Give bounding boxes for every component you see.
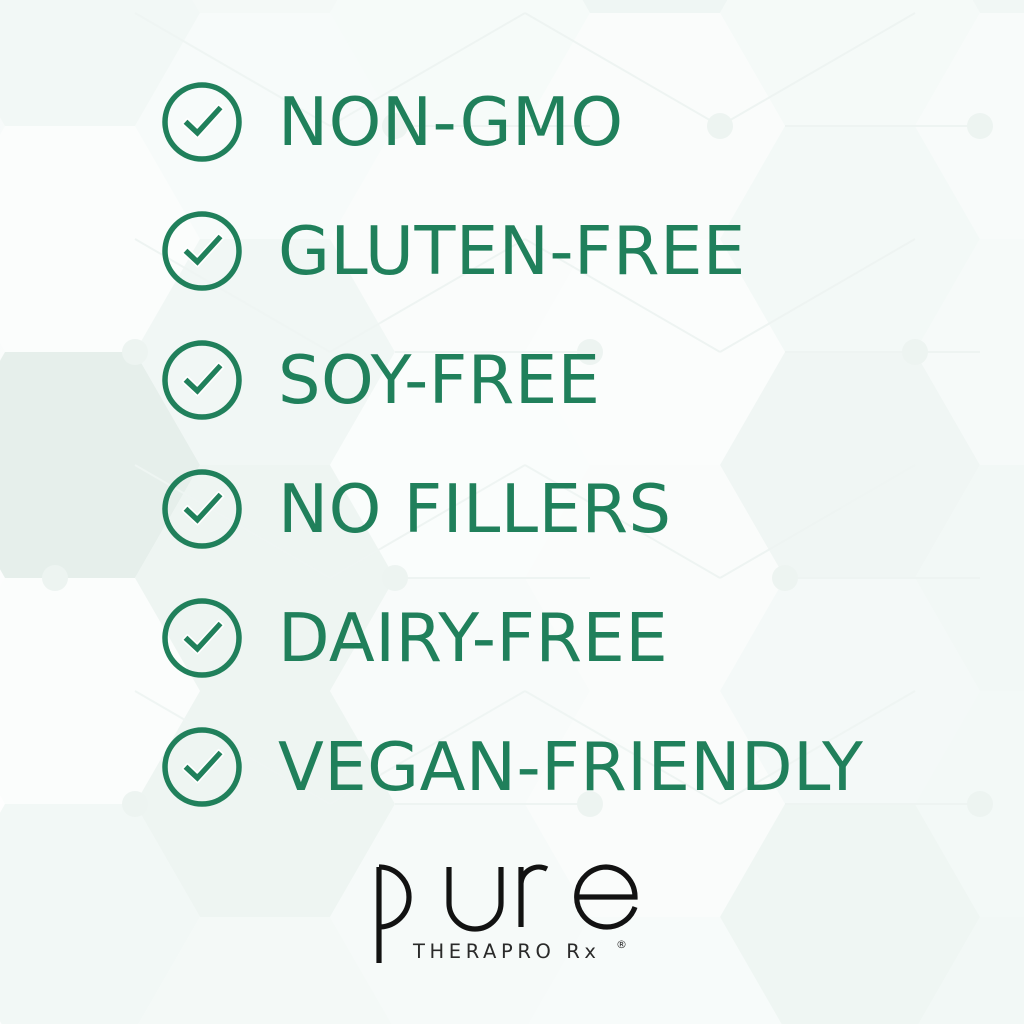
claim-label: NON-GMO — [278, 89, 624, 156]
claim-row: VEGAN-FRIENDLY — [160, 723, 863, 811]
check-circle-icon — [160, 338, 244, 422]
claim-label: GLUTEN-FREE — [278, 218, 746, 285]
claim-label: DAIRY-FREE — [278, 605, 668, 672]
claim-row: NON-GMO — [160, 78, 624, 166]
claim-label: VEGAN-FRIENDLY — [278, 734, 863, 801]
pure-therapro-rx-logo: THERAPRO Rx ® — [367, 845, 657, 970]
check-circle-icon — [160, 725, 244, 809]
claim-row: GLUTEN-FREE — [160, 207, 746, 295]
logo-tagline: THERAPRO Rx — [412, 940, 601, 963]
claim-label: NO FILLERS — [278, 476, 672, 543]
claim-row: DAIRY-FREE — [160, 594, 668, 682]
check-circle-icon — [160, 467, 244, 551]
claim-label: SOY-FREE — [278, 347, 601, 414]
claim-row: NO FILLERS — [160, 465, 672, 553]
claim-row: SOY-FREE — [160, 336, 601, 424]
check-circle-icon — [160, 209, 244, 293]
registered-mark: ® — [616, 938, 627, 951]
check-circle-icon — [160, 596, 244, 680]
check-circle-icon — [160, 80, 244, 164]
product-attributes-graphic: NON-GMO GLUTEN-FREE SOY-FREE — [0, 0, 1024, 1024]
brand-logo: THERAPRO Rx ® — [0, 845, 1024, 970]
claims-list: NON-GMO GLUTEN-FREE SOY-FREE — [0, 0, 1024, 820]
